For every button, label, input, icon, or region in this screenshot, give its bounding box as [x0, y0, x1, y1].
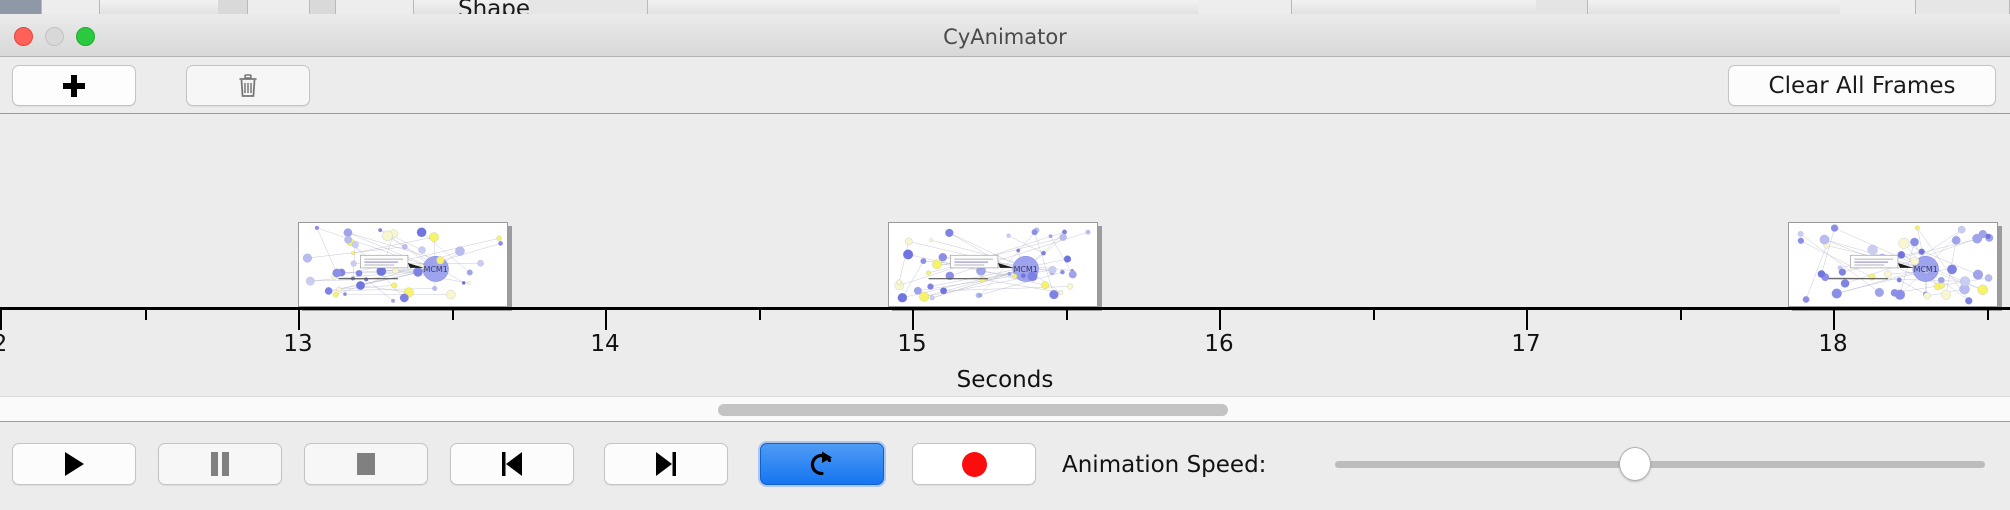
pause-button[interactable]	[158, 443, 282, 485]
ruler-tick-minor	[1373, 310, 1375, 320]
bg-fragment	[1916, 0, 2010, 14]
bg-fragment	[218, 0, 248, 14]
svg-text:MCM1: MCM1	[1914, 265, 1938, 274]
timeline-horizontal-scrollbar[interactable]	[0, 396, 2010, 422]
slider-thumb[interactable]	[1619, 447, 1651, 481]
ruler-tick-minor	[1066, 310, 1068, 320]
ruler-tick-label: 13	[283, 331, 312, 357]
add-frame-button[interactable]	[12, 65, 136, 106]
ruler-tick-minor	[1680, 310, 1682, 320]
plus-icon	[63, 75, 85, 97]
ruler-tick-minor	[759, 310, 761, 320]
record-button[interactable]	[912, 443, 1036, 485]
ruler-tick-major	[298, 310, 300, 330]
ruler-tick-label: 2	[0, 331, 7, 357]
bg-fragment	[1536, 0, 1588, 14]
ruler-tick-minor	[1987, 310, 1989, 320]
bg-fragment	[310, 0, 336, 14]
svg-text:MCM1: MCM1	[424, 265, 448, 274]
delete-frame-button[interactable]	[186, 65, 310, 106]
timeline-frame-thumbnail[interactable]: MCM1	[888, 222, 1098, 307]
ruler-tick-label: 14	[590, 331, 619, 357]
animation-speed-label: Animation Speed:	[1062, 452, 1266, 478]
trash-icon	[238, 74, 258, 98]
skip-forward-button[interactable]	[604, 443, 728, 485]
loop-button[interactable]	[760, 443, 884, 485]
slider-track	[1335, 461, 1985, 468]
ruler-tick-major	[1526, 310, 1528, 330]
ruler-tick-label: 15	[897, 331, 926, 357]
timeline-panel: MCM1 MCM1 MCM1 2131	[0, 114, 2010, 422]
bg-fragment	[42, 0, 100, 14]
timeline-frame-thumbnail[interactable]: MCM1	[298, 222, 508, 307]
ruler-baseline	[0, 307, 2010, 310]
title-bar: CyAnimator	[0, 14, 2010, 57]
pause-icon	[209, 451, 231, 477]
window-title: CyAnimator	[0, 25, 2010, 49]
play-icon	[62, 451, 86, 477]
bg-fragment	[528, 0, 648, 14]
playback-control-bar: Animation Speed:	[0, 422, 2010, 507]
scrollbar-thumb[interactable]	[718, 404, 1228, 416]
animation-speed-slider[interactable]	[1335, 456, 1985, 472]
bg-fragment	[1198, 0, 1292, 14]
frames-area: MCM1 MCM1 MCM1	[0, 114, 2010, 307]
timeline-frame-thumbnail[interactable]: MCM1	[1788, 222, 1998, 307]
loop-icon	[808, 450, 836, 478]
ruler-tick-label: 18	[1818, 331, 1847, 357]
svg-text:MCM1: MCM1	[1014, 265, 1038, 274]
ruler-tick-major	[1219, 310, 1221, 330]
ruler-tick-major	[912, 310, 914, 330]
record-icon	[962, 452, 987, 477]
cyanimator-window: CyAnimator Clear All Frames	[0, 14, 2010, 510]
ruler-tick-minor	[452, 310, 454, 320]
play-button[interactable]	[12, 443, 136, 485]
skip-forward-icon	[653, 451, 679, 477]
clear-all-frames-button[interactable]: Clear All Frames	[1728, 65, 1996, 106]
ruler-tick-major	[0, 310, 2, 330]
ruler-tick-label: 17	[1511, 331, 1540, 357]
timeline-ruler[interactable]: 2131415161718	[0, 307, 2010, 367]
background-window-strip: Shape	[0, 0, 2010, 14]
stop-icon	[354, 451, 378, 477]
ruler-tick-major	[605, 310, 607, 330]
bg-fragment	[0, 0, 42, 14]
skip-back-button[interactable]	[450, 443, 574, 485]
bg-fragment	[248, 0, 310, 14]
toolbar: Clear All Frames	[0, 57, 2010, 114]
bg-fragment	[1840, 0, 1916, 14]
ruler-tick-label: 16	[1204, 331, 1233, 357]
ruler-tick-major	[1833, 310, 1835, 330]
axis-label: Seconds	[0, 367, 2010, 393]
bg-fragment	[336, 0, 414, 14]
ruler-tick-minor	[145, 310, 147, 320]
bg-shape-label: Shape	[458, 0, 530, 14]
stop-button[interactable]	[304, 443, 428, 485]
skip-back-icon	[499, 451, 525, 477]
